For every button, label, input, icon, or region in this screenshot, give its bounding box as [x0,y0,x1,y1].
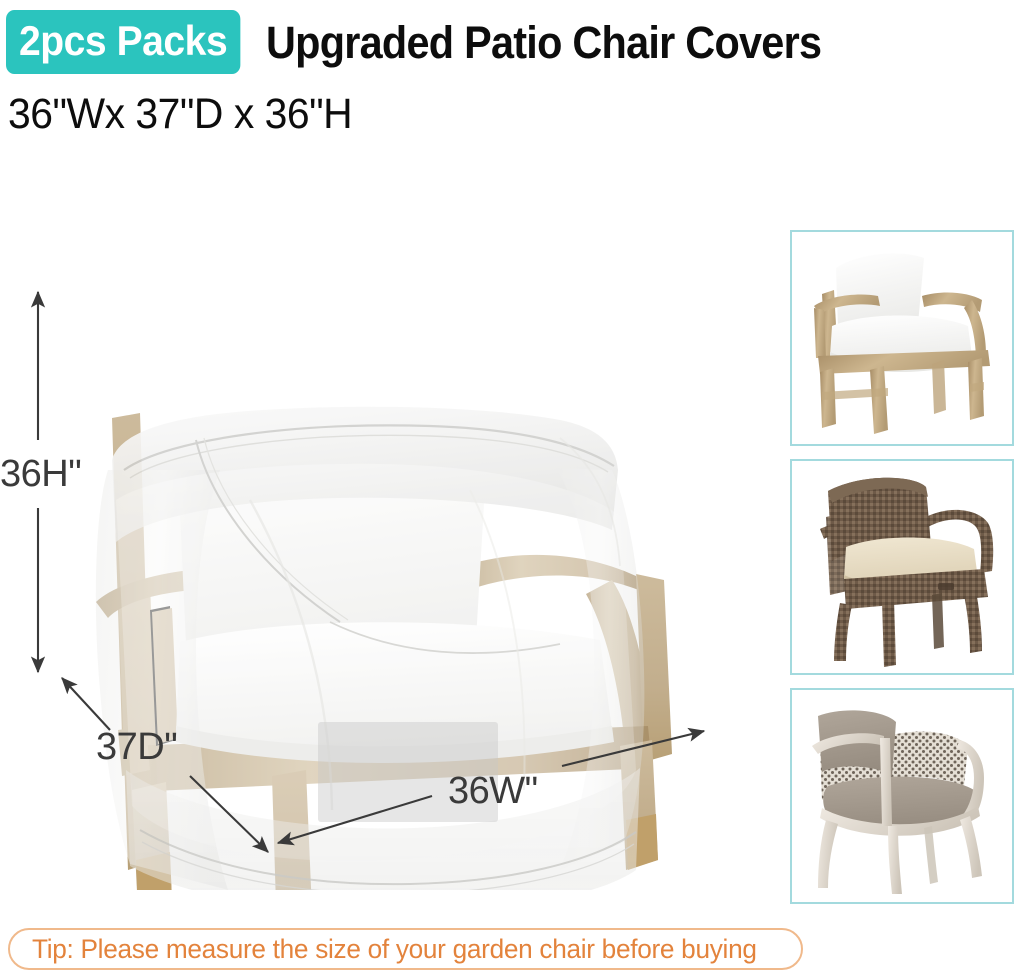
measurement-tip-text: Tip: Please measure the size of your gar… [32,936,757,963]
covered-chair-illustration [0,170,780,890]
teak-armchair-image [792,232,1012,444]
brand-badge [938,583,954,590]
product-infographic-page: 2pcs Packs Upgraded Patio Chair Covers 3… [0,0,1024,973]
hero-illustration [0,170,780,890]
wicker-armchair-image [792,461,1012,673]
page-title: Upgraded Patio Chair Covers [266,20,821,65]
thumbnail-teak-armchair[interactable] [790,230,1014,446]
height-dimension-label: 36H" [0,455,81,493]
chair-cover [96,407,645,890]
thumbnail-mesh-lounge-chair[interactable] [790,688,1014,904]
mesh-lounge-chair-image [792,690,1012,902]
depth-dimension-label: 37D" [96,728,177,766]
pack-count-badge: 2pcs Packs [6,10,240,74]
width-dimension-label: 36W" [448,772,538,810]
dimensions-subtitle: 36"Wx 37"D x 36"H [8,93,352,136]
header: 2pcs Packs Upgraded Patio Chair Covers [0,6,1024,78]
thumbnail-wicker-armchair[interactable] [790,459,1014,675]
measurement-tip-pill: Tip: Please measure the size of your gar… [8,928,803,970]
